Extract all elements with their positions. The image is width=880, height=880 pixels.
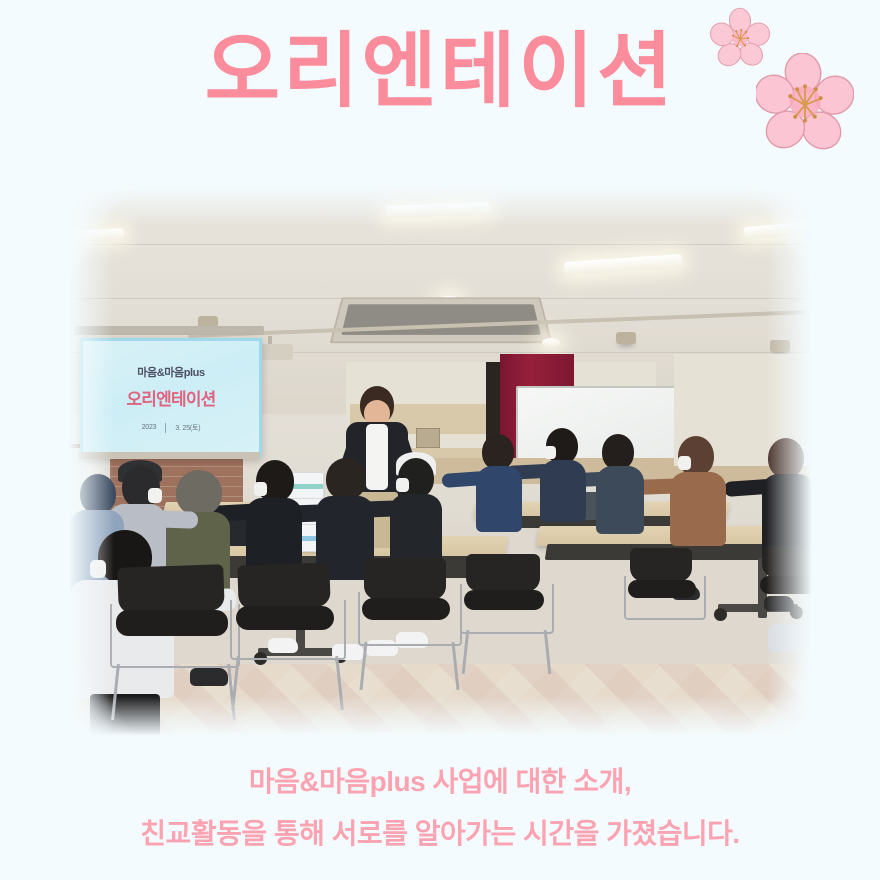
spotlight — [770, 340, 790, 352]
slide-year: 2023 — [142, 424, 157, 431]
caption-line-1: 마음&마음plus 사업에 대한 소개, — [0, 756, 880, 808]
chair-seat — [760, 576, 812, 594]
ceiling-line — [68, 244, 812, 245]
floor — [68, 664, 812, 736]
slide-subtitle: 마음&마음plus — [137, 364, 204, 380]
chair-frame — [460, 584, 554, 634]
title-row: 오리엔테이션 — [0, 0, 880, 175]
wall-outlet — [416, 428, 440, 448]
projector-screen: 마음&마음plus 오리엔테이션 2023 3. 25(토) — [80, 338, 262, 458]
chair-frame — [358, 592, 462, 646]
chair-frame — [624, 576, 706, 620]
cherry-blossom-icon — [756, 53, 854, 151]
caption-line-2: 친교활동을 통해 서로를 알아가는 시간을 가졌습니다. — [0, 808, 880, 860]
chair — [762, 546, 812, 578]
ceiling-downlight — [542, 338, 560, 347]
presenter-shirt — [366, 424, 388, 490]
poster-card: 오리엔테이션 — [0, 0, 880, 880]
caption: 마음&마음plus 사업에 대한 소개, 친교활동을 통해 서로를 알아가는 시… — [0, 756, 880, 860]
chair-frame — [110, 604, 240, 668]
chair-frame — [230, 600, 346, 660]
floor-bag — [768, 624, 810, 652]
projector-screen-weight-bar — [78, 452, 260, 459]
spotlight — [616, 332, 636, 344]
projector-screen-housing — [74, 326, 264, 335]
slide-title: 오리엔테이션 — [126, 385, 215, 410]
slide-date-row: 2023 3. 25(토) — [142, 420, 201, 433]
table-caster — [714, 608, 727, 621]
slide-date: 3. 25(토) — [175, 423, 200, 433]
event-photo: 마음&마음plus 오리엔테이션 2023 3. 25(토) — [68, 186, 812, 736]
